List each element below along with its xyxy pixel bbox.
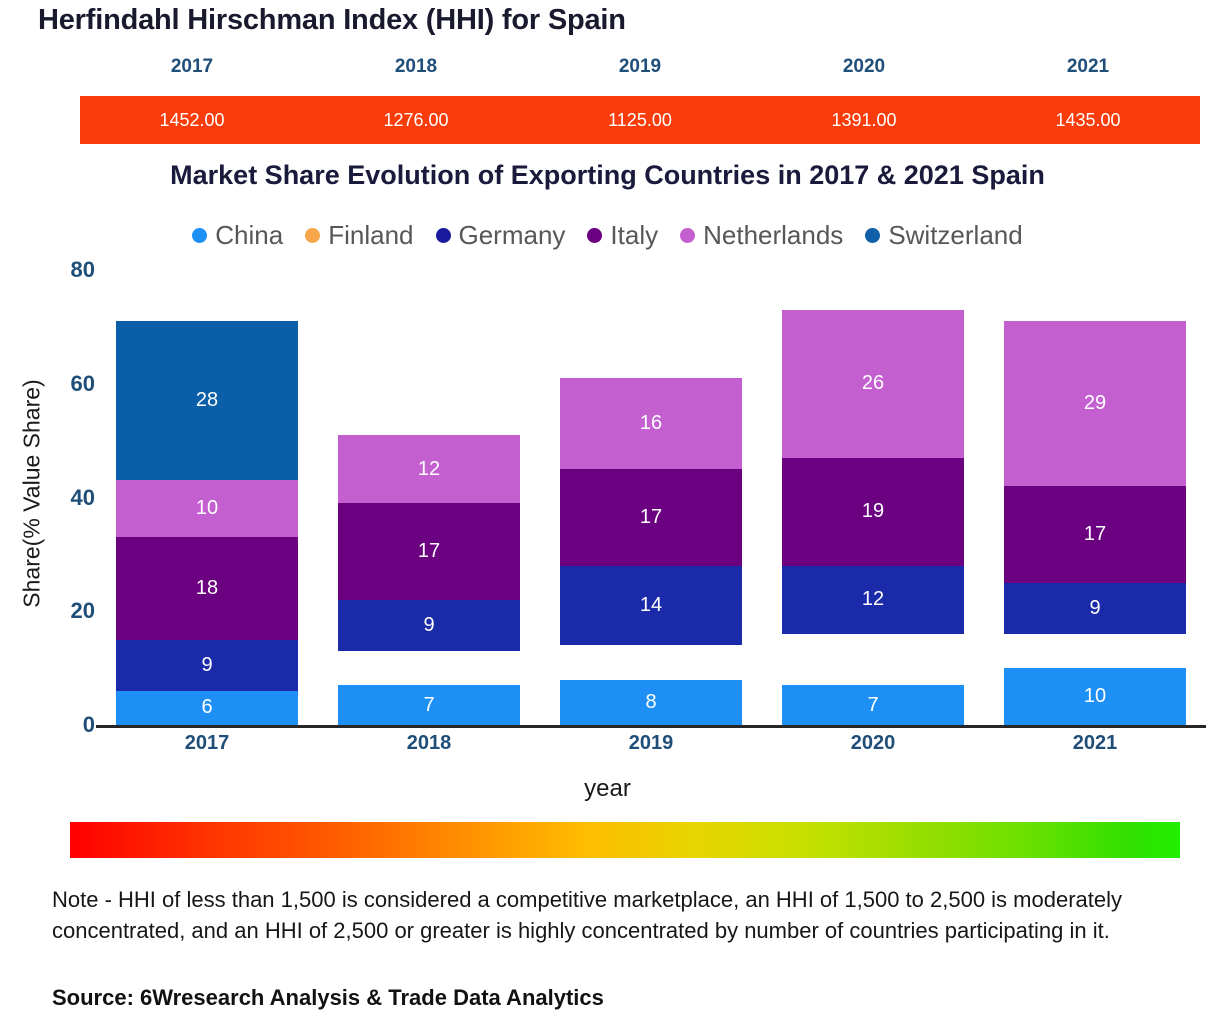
bar-segment-value: 6 bbox=[1089, 640, 1100, 663]
bar-segment-italy[interactable]: 18 bbox=[116, 537, 298, 639]
bar-segment-netherlands[interactable]: 16 bbox=[560, 378, 742, 469]
bar-segment-value: 6 bbox=[201, 696, 212, 719]
bar-segment-value: 8 bbox=[645, 691, 656, 714]
bar-segment-germany[interactable]: 9 bbox=[116, 640, 298, 691]
legend-item-italy[interactable]: Italy bbox=[587, 220, 658, 251]
legend-label: Netherlands bbox=[703, 220, 843, 251]
legend-item-china[interactable]: China bbox=[192, 220, 283, 251]
bar-segment-value: 7 bbox=[867, 694, 878, 717]
hhi-value: 1391.00 bbox=[752, 96, 976, 144]
bar-segment-china[interactable]: 7 bbox=[338, 685, 520, 725]
x-axis-title: year bbox=[0, 775, 1215, 803]
bar-segment-germany[interactable]: 9 bbox=[338, 600, 520, 651]
bar-group-2021: 10691729 bbox=[1004, 321, 1186, 725]
bar-segment-value: 7 bbox=[423, 694, 434, 717]
source-text: Source: 6Wresearch Analysis & Trade Data… bbox=[52, 985, 1202, 1011]
bar-segment-china[interactable]: 6 bbox=[116, 691, 298, 725]
hhi-year-label: 2019 bbox=[528, 56, 752, 84]
hhi-year-header-row: 20172018201920202021 bbox=[80, 56, 1200, 84]
bar-segment-china[interactable]: 10 bbox=[1004, 668, 1186, 725]
bar-segment-value: 10 bbox=[196, 497, 218, 520]
bar-segment-germany[interactable]: 9 bbox=[1004, 583, 1186, 634]
bar-segment-china[interactable]: 7 bbox=[782, 685, 964, 725]
bar-segment-value: 18 bbox=[196, 577, 218, 600]
note-text: Note - HHI of less than 1,500 is conside… bbox=[52, 884, 1202, 946]
y-tick-label: 20 bbox=[30, 598, 95, 624]
bar-segment-italy[interactable]: 19 bbox=[782, 458, 964, 566]
bar-segment-switzerland[interactable]: 28 bbox=[116, 321, 298, 480]
bar-segment-value: 17 bbox=[640, 506, 662, 529]
bar-segment-value: 12 bbox=[862, 588, 884, 611]
x-tick-label: 2018 bbox=[338, 732, 520, 755]
bar-segment-finland[interactable]: 6 bbox=[1004, 634, 1186, 668]
x-tick-label: 2017 bbox=[116, 732, 298, 755]
y-tick-label: 60 bbox=[30, 371, 95, 397]
hhi-year-label: 2017 bbox=[80, 56, 304, 84]
hhi-title: Herfindahl Hirschman Index (HHI) for Spa… bbox=[38, 4, 626, 37]
hhi-year-label: 2020 bbox=[752, 56, 976, 84]
bar-group-2020: 79121926 bbox=[782, 310, 964, 725]
bar-segment-value: 9 bbox=[867, 648, 878, 671]
legend-swatch-icon bbox=[587, 228, 602, 243]
y-axis-ticks: 020406080 bbox=[30, 270, 95, 730]
bar-segment-value: 19 bbox=[862, 500, 884, 523]
x-tick-label: 2019 bbox=[560, 732, 742, 755]
bar-segment-value: 16 bbox=[640, 412, 662, 435]
bar-segment-value: 17 bbox=[418, 540, 440, 563]
legend-label: Switzerland bbox=[888, 220, 1022, 251]
bar-segment-value: 17 bbox=[1084, 523, 1106, 546]
bar-segment-value: 9 bbox=[201, 654, 212, 677]
bar-segment-germany[interactable]: 12 bbox=[782, 566, 964, 634]
legend-item-germany[interactable]: Germany bbox=[436, 220, 566, 251]
legend-swatch-icon bbox=[436, 228, 451, 243]
bar-segment-value: 26 bbox=[862, 372, 884, 395]
x-axis-line bbox=[96, 725, 1206, 728]
bar-segment-netherlands[interactable]: 26 bbox=[782, 310, 964, 458]
bar-segment-finland[interactable]: 9 bbox=[782, 634, 964, 685]
bar-segment-china[interactable]: 8 bbox=[560, 680, 742, 726]
hhi-value: 1452.00 bbox=[80, 96, 304, 144]
bar-segment-netherlands[interactable]: 10 bbox=[116, 480, 298, 537]
bar-segment-netherlands[interactable]: 12 bbox=[338, 435, 520, 503]
legend-swatch-icon bbox=[192, 228, 207, 243]
bar-segment-value: 12 bbox=[418, 458, 440, 481]
legend-label: Finland bbox=[328, 220, 413, 251]
bar-group-2017: 69181028 bbox=[116, 321, 298, 725]
chart-title: Market Share Evolution of Exporting Coun… bbox=[0, 160, 1215, 191]
bar-group-2018: 7691712 bbox=[338, 435, 520, 725]
hhi-value: 1435.00 bbox=[976, 96, 1200, 144]
hhi-year-label: 2021 bbox=[976, 56, 1200, 84]
bar-segment-value: 6 bbox=[423, 657, 434, 680]
y-tick-label: 40 bbox=[30, 485, 95, 511]
x-tick-label: 2020 bbox=[782, 732, 964, 755]
concentration-gradient-bar bbox=[70, 822, 1180, 858]
bar-segment-value: 6 bbox=[645, 651, 656, 674]
bar-segment-finland[interactable]: 6 bbox=[560, 645, 742, 679]
legend-swatch-icon bbox=[305, 228, 320, 243]
hhi-market-share-infographic: Herfindahl Hirschman Index (HHI) for Spa… bbox=[0, 0, 1215, 1027]
x-axis-tick-labels: 20172018201920202021 bbox=[96, 732, 1206, 762]
bar-segment-italy[interactable]: 17 bbox=[338, 503, 520, 600]
legend-label: Germany bbox=[459, 220, 566, 251]
legend-label: Italy bbox=[610, 220, 658, 251]
legend-item-finland[interactable]: Finland bbox=[305, 220, 413, 251]
bar-segment-value: 9 bbox=[1089, 597, 1100, 620]
hhi-value-bar: 1452.001276.001125.001391.001435.00 bbox=[80, 96, 1200, 144]
bar-segment-germany[interactable]: 14 bbox=[560, 566, 742, 646]
bar-segment-finland[interactable]: 6 bbox=[338, 651, 520, 685]
bar-segment-value: 14 bbox=[640, 594, 662, 617]
bar-segment-value: 10 bbox=[1084, 685, 1106, 708]
legend-item-switzerland[interactable]: Switzerland bbox=[865, 220, 1022, 251]
bar-segment-value: 9 bbox=[423, 614, 434, 637]
bar-segment-value: 29 bbox=[1084, 392, 1106, 415]
hhi-value: 1276.00 bbox=[304, 96, 528, 144]
chart-legend: ChinaFinlandGermanyItalyNetherlandsSwitz… bbox=[0, 220, 1215, 251]
bar-segment-value: 28 bbox=[196, 389, 218, 412]
bar-segment-italy[interactable]: 17 bbox=[560, 469, 742, 566]
hhi-year-label: 2018 bbox=[304, 56, 528, 84]
bar-segment-netherlands[interactable]: 29 bbox=[1004, 321, 1186, 486]
hhi-value: 1125.00 bbox=[528, 96, 752, 144]
legend-swatch-icon bbox=[865, 228, 880, 243]
y-tick-label: 0 bbox=[30, 712, 95, 738]
bar-segment-italy[interactable]: 17 bbox=[1004, 486, 1186, 583]
legend-item-netherlands[interactable]: Netherlands bbox=[680, 220, 843, 251]
y-tick-label: 80 bbox=[30, 257, 95, 283]
legend-swatch-icon bbox=[680, 228, 695, 243]
legend-label: China bbox=[215, 220, 283, 251]
bar-group-2019: 86141716 bbox=[560, 378, 742, 725]
x-tick-label: 2021 bbox=[1004, 732, 1186, 755]
chart-plot-area: Share(% Value Share) 020406080 691810287… bbox=[0, 270, 1215, 770]
stacked-bars: 691810287691712861417167912192610691729 bbox=[96, 270, 1206, 725]
